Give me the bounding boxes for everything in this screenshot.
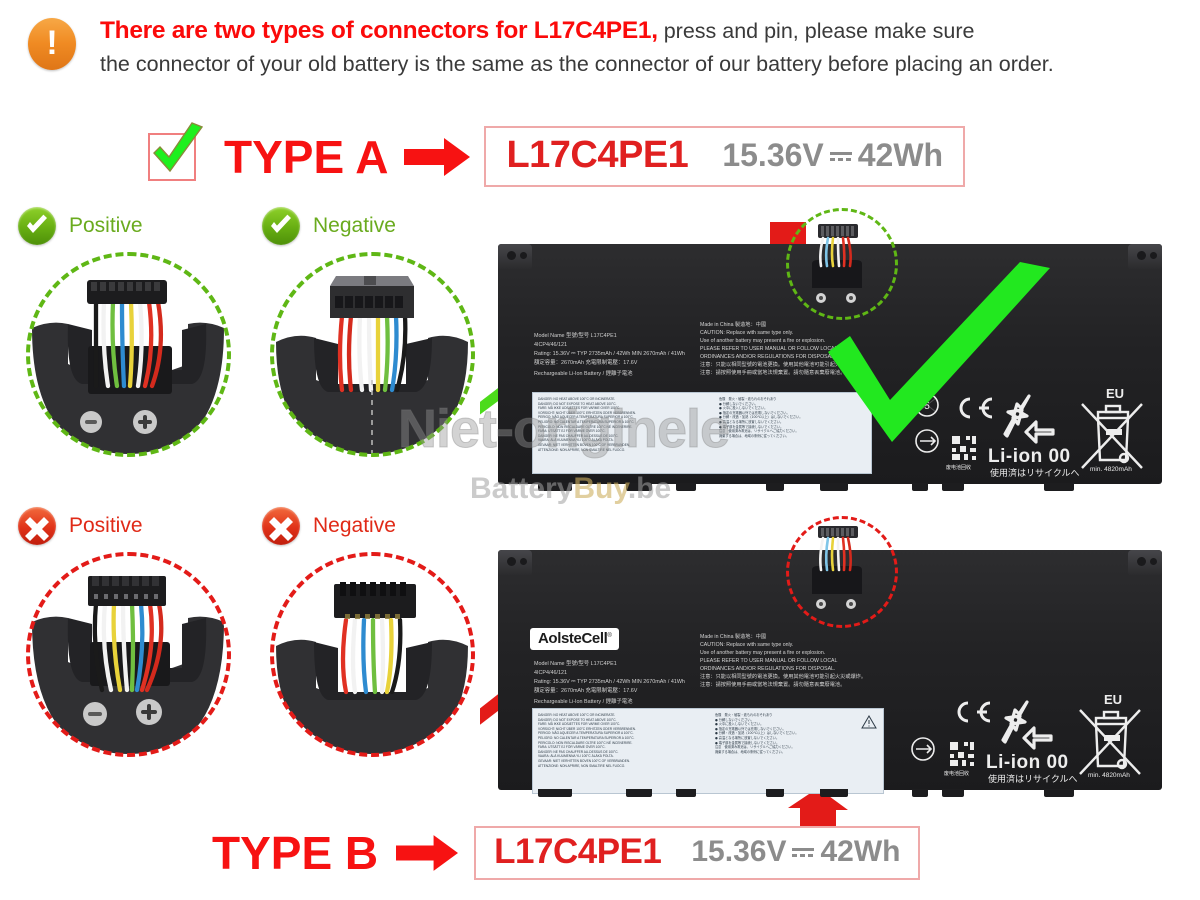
crossed-out-wheelie-bin-icon [1074, 706, 1146, 780]
battery-a-caution-2: Use of another battery may present a fir… [700, 338, 825, 346]
type-b-energy: 42Wh [820, 835, 900, 869]
connector-a-negative-photo [262, 250, 482, 465]
battery-b-caution-1: CAUTION: Replace with same type only. [700, 642, 793, 650]
type-a-model: L17C4PE1 [506, 134, 688, 177]
eu-label-text: EU [1104, 692, 1122, 707]
dc-current-icon [830, 147, 852, 165]
battery-a-mount-tab-right [1128, 244, 1162, 270]
infographic-canvas: ! There are two types of connectors for … [0, 0, 1200, 900]
green-checkmark-icon [148, 133, 196, 181]
battery-b-cell-code: 4ICP4/46/121 [534, 669, 567, 677]
battery-a-made-in: Made in China 製造地：中國 [700, 322, 766, 330]
connector-a-positive-photo [18, 250, 238, 465]
battery-b-model-name: Model Name 型號/型号 L17C4PE1 [534, 660, 617, 668]
brand-registered-mark: ® [607, 633, 611, 639]
alert-exclamation-icon: ! [28, 18, 76, 70]
battery-b-caution-2: Use of another battery may present a fir… [700, 650, 825, 658]
connector-a-negative-label: Negative [313, 214, 396, 238]
battery-b-capacity-cn: 額定容量：2670mAh 充電限制電壓：17.6V [534, 687, 637, 695]
recycle-jp-text: 使用済はリサイクルへ [988, 772, 1078, 785]
battery-b-mount-tab-left [498, 550, 532, 576]
connector-a-positive-header: Positive [18, 206, 238, 246]
connector-panel-a-negative: Negative [262, 206, 482, 465]
battery-a-cell-code: 4ICP4/46/121 [534, 341, 567, 349]
red-dashed-circle-icon [270, 552, 475, 757]
battery-a-capacity-cn: 額定容量：2670mAh 充電限制電壓：17.6V [534, 359, 637, 367]
dc-current-icon [792, 843, 814, 861]
battery-a-warning-en: DANGER: NO HEAT ABOVE 100°C OR INCINERAT… [538, 397, 713, 452]
header-highlight: There are two types of connectors for L1… [100, 17, 658, 44]
connector-a-positive-label: Positive [69, 214, 143, 238]
li-ion-text: Li-ion 00 [986, 752, 1069, 774]
header-message: There are two types of connectors for L1… [100, 14, 1190, 81]
brand-name: AolsteCell [538, 630, 607, 647]
red-dashed-highlight-circle [786, 516, 898, 628]
battery-a-chemistry: Rechargeable Li-Ion Battery / 鋰離子電池 [534, 370, 633, 378]
type-b-spec-box: L17C4PE1 15.36V 42Wh [474, 826, 920, 880]
battery-recycling-qr-icon [948, 740, 976, 768]
battery-b-caution-3: PLEASE REFER TO USER MANUAL OR FOLLOW LO… [700, 658, 837, 666]
battery-a-feet [498, 483, 1162, 491]
red-dashed-circle-icon [26, 552, 231, 757]
connector-b-negative-photo [262, 550, 482, 765]
brand-chip: AolsteCell® [530, 628, 619, 650]
battery-photo-type-b: AolsteCell® Model Name 型號/型号 L17C4PE1 4I… [480, 528, 1180, 808]
connector-panel-a-positive: Positive [18, 206, 238, 465]
type-a-voltage: 15.36V [722, 137, 823, 174]
battery-b-chemistry: Rechargeable Li-Ion Battery / 鋰離子電池 [534, 698, 633, 706]
type-a-energy: 42Wh [858, 137, 943, 174]
battery-recycle-cn-text: 废电池回收 [944, 770, 969, 777]
battery-photo-type-a: Model Name 型號/型号 L17C4PE1 4ICP4/46/121 R… [480, 222, 1180, 502]
type-a-rating: 15.36V 42Wh [722, 137, 943, 174]
green-dashed-circle-icon [26, 252, 231, 457]
header-banner: ! There are two types of connectors for … [0, 0, 1200, 108]
type-b-label: TYPE B [212, 830, 378, 876]
connector-b-negative-label: Negative [313, 514, 396, 538]
exclamation-glyph: ! [46, 26, 57, 60]
battery-a-caution-1: CAUTION: Replace with same type only. [700, 330, 793, 338]
checkmark-glyph [146, 121, 208, 183]
type-a-banner: TYPE A L17C4PE1 15.36V 42Wh [148, 126, 965, 187]
eu-label-text: EU [1106, 386, 1124, 401]
battery-b-caution-cn-2: 注意：請按照使用手冊或當地法規棄置。請勿隨意丟棄廢電池。 [700, 682, 845, 690]
type-a-spec-box: L17C4PE1 15.36V 42Wh [484, 126, 965, 187]
ce-mark-icon [952, 700, 996, 729]
type-b-voltage: 15.36V [691, 835, 786, 869]
warning-triangle-icon [861, 715, 877, 729]
battery-b-warning-en: DANGER: NO HEAT ABOVE 100°C OR INCINERAT… [538, 713, 710, 768]
min-capacity-text: min. 4820mAh [1090, 466, 1132, 473]
connector-a-negative-header: Negative [262, 206, 482, 246]
type-b-rating: 15.36V 42Wh [691, 835, 900, 869]
battery-b-warning-label: DANGER: NO HEAT ABOVE 100°C OR INCINERAT… [532, 708, 884, 794]
header-line2: the connector of your old battery is the… [100, 52, 1054, 76]
battery-a-rating: Rating: 15.36V ⎓ TYP 2735mAh / 42Wh MIN … [534, 350, 685, 358]
header-rest: press and pin, please make sure [658, 19, 975, 43]
min-capacity-text: min. 4820mAh [1088, 772, 1130, 779]
green-check-circle-icon [18, 207, 56, 245]
type-a-label: TYPE A [224, 134, 388, 180]
large-green-checkmark-icon [814, 262, 1064, 472]
battery-b-feet [498, 789, 1162, 797]
red-cross-circle-icon [18, 507, 56, 545]
battery-b-warning-jp: 危険 発火・破裂・液もれのおそれあり● 分解しないでください。● 火中に投入しな… [715, 713, 851, 754]
connector-panel-b-negative: Negative [262, 506, 482, 765]
connector-b-positive-header: Positive [18, 506, 238, 546]
battery-b-caution-cn-1: 注意：只能以相同型號的電池更換。使用其他電池可能引起火災或爆炸。 [700, 674, 866, 682]
battery-a-model-name: Model Name 型號/型号 L17C4PE1 [534, 332, 617, 340]
crossed-out-wheelie-bin-icon [1076, 400, 1148, 474]
green-dashed-circle-icon [270, 252, 475, 457]
battery-b-made-in: Made in China 製造地：中國 [700, 634, 766, 642]
green-check-circle-icon [262, 207, 300, 245]
connector-b-negative-header: Negative [262, 506, 482, 546]
red-right-arrow-icon [404, 136, 470, 178]
connector-b-positive-label: Positive [69, 514, 143, 538]
battery-a-mount-tab-left [498, 244, 532, 270]
connector-panel-b-positive: Positive [18, 506, 238, 765]
battery-b-rating: Rating: 15.36V ⎓ TYP 2735mAh / 42Wh MIN … [534, 678, 685, 686]
recycling-loop-icon [996, 696, 1058, 754]
red-right-arrow-icon [396, 833, 458, 873]
battery-b-body: AolsteCell® Model Name 型號/型号 L17C4PE1 4I… [498, 550, 1162, 790]
red-cross-circle-icon [262, 507, 300, 545]
recycling-arrow-circle-icon [910, 736, 936, 762]
connector-b-positive-photo [18, 550, 238, 765]
type-b-model: L17C4PE1 [494, 832, 661, 872]
type-b-banner: TYPE B L17C4PE1 15.36V 42Wh [212, 826, 920, 880]
battery-b-mount-tab-right [1128, 550, 1162, 576]
battery-b-caution-4: ORDINANCES AND/OR REGULATIONS FOR DISPOS… [700, 666, 835, 674]
battery-a-body: Model Name 型號/型号 L17C4PE1 4ICP4/46/121 R… [498, 244, 1162, 484]
